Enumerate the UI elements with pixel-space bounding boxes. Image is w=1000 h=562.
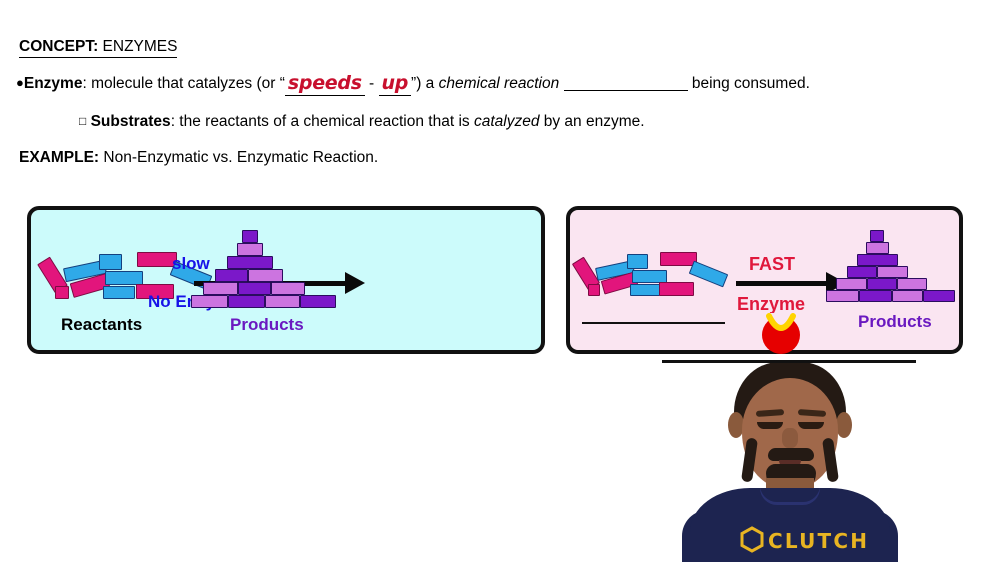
example-label: EXAMPLE: <box>19 149 99 166</box>
reactant-block <box>689 261 729 288</box>
product-block <box>897 278 927 290</box>
video-top-border <box>662 360 916 363</box>
clutch-hexagon-logo-icon <box>740 526 764 553</box>
example-text: Non-Enzymatic vs. Enzymatic Reaction. <box>99 149 378 166</box>
product-block <box>215 269 248 282</box>
product-block <box>847 266 877 278</box>
concept-label: CONCEPT: <box>19 38 98 55</box>
arrow-label-enzyme: Enzyme <box>737 294 805 315</box>
reactant-block <box>99 254 122 270</box>
product-block <box>877 266 908 278</box>
reactant-block <box>627 254 648 269</box>
product-block <box>836 278 867 290</box>
diagram-enzymatic: FAST Enzyme Products <box>566 206 963 354</box>
substrate-term: Substrates <box>91 113 171 130</box>
product-block <box>867 278 897 290</box>
reactant-block <box>659 282 694 296</box>
product-block <box>237 243 263 256</box>
enzyme-text-after: being consumed. <box>688 75 810 92</box>
fill-in-blank-substrates <box>582 322 725 324</box>
product-block <box>265 295 300 308</box>
product-block <box>203 282 238 295</box>
product-block <box>859 290 892 302</box>
reactant-block <box>588 284 600 296</box>
handwritten-answer-1: speeds <box>288 72 362 94</box>
product-block <box>857 254 898 266</box>
reactants-label: Reactants <box>61 315 142 335</box>
enzyme-term: Enzyme <box>24 75 83 92</box>
reactant-block <box>103 286 135 299</box>
enzyme-text-before: : molecule that catalyzes (or “ <box>82 75 284 92</box>
concept-heading: CONCEPT: ENZYMES <box>19 39 177 55</box>
product-block <box>300 295 336 308</box>
handwritten-answer-2: up <box>382 72 409 94</box>
presenter-eye-right <box>798 422 824 429</box>
presenter-video-overlay[interactable]: CLUTCH <box>662 360 916 562</box>
product-block <box>227 256 273 269</box>
presenter-figure: CLUTCH <box>662 360 916 562</box>
presenter-nose <box>782 428 798 448</box>
fill-in-blank-1 <box>564 90 688 91</box>
presenter-eye-left <box>757 422 783 429</box>
concept-topic: ENZYMES <box>103 38 178 55</box>
example-line: EXAMPLE: Non-Enzymatic vs. Enzymatic Rea… <box>19 150 378 166</box>
arrow-label-slow: slow <box>172 254 210 274</box>
diagram-non-enzymatic: Reactants slow No Enzyme Products <box>27 206 545 354</box>
reactant-block <box>137 252 177 267</box>
reaction-arrow-shaft <box>736 281 828 286</box>
substrate-definition-line: □ Substrates: the reactants of a chemica… <box>79 114 645 130</box>
product-block <box>923 290 955 302</box>
product-block <box>826 290 859 302</box>
product-block <box>866 242 889 254</box>
presenter-collar <box>760 488 820 505</box>
handwritten-answer-2-underline: up <box>379 76 412 96</box>
enzyme-text-mid: ”) a <box>411 75 439 92</box>
reactant-block <box>105 271 143 285</box>
enzyme-definition-line: ●Enzyme: molecule that catalyzes (or “sp… <box>16 76 810 96</box>
bullet-dot-icon: ● <box>16 75 24 90</box>
products-label-right: Products <box>858 312 932 332</box>
clutch-brand-text: CLUTCH <box>768 529 869 553</box>
product-block <box>870 230 884 242</box>
reaction-arrow-head <box>345 272 365 294</box>
products-label-left: Products <box>230 315 304 335</box>
reactant-block <box>630 284 660 296</box>
product-block <box>191 295 228 308</box>
substrate-italic-phrase: catalyzed <box>474 113 539 130</box>
product-block <box>892 290 923 302</box>
arrow-label-fast: FAST <box>749 254 795 275</box>
enzyme-italic-phrase: chemical reaction <box>439 75 560 92</box>
product-block <box>228 295 265 308</box>
product-block <box>271 282 305 295</box>
enzyme-molecule-icon <box>760 313 802 355</box>
presenter-ear-right <box>836 412 852 438</box>
product-block <box>238 282 271 295</box>
slide-canvas: CONCEPT: ENZYMES ●Enzyme: molecule that … <box>0 0 1000 562</box>
product-block <box>248 269 283 282</box>
substrate-text-before: : the reactants of a chemical reaction t… <box>171 113 474 130</box>
substrate-text-after: by an enzyme. <box>539 113 644 130</box>
reactant-block <box>55 286 69 299</box>
product-block <box>242 230 258 243</box>
handwritten-answer-1-underline: speeds <box>285 76 365 96</box>
